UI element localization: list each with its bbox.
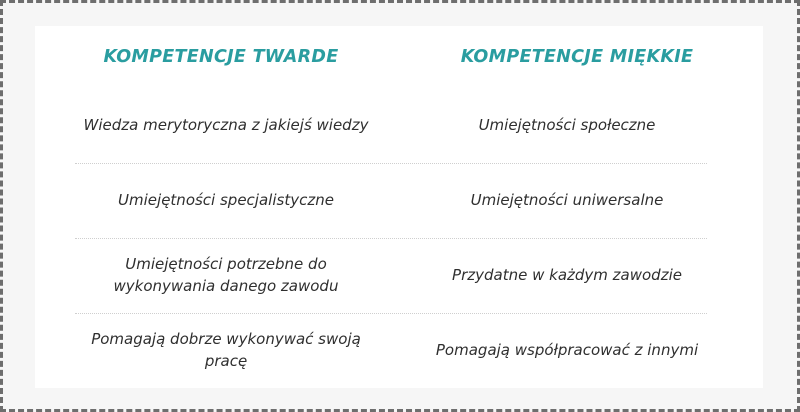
cell-hard-skills-1: Wiedza merytoryczna z jakiejś wiedzy [43, 115, 399, 137]
table-row: Pomagają dobrze wykonywać swoją pracę Po… [43, 313, 755, 388]
table-header-row: KOMPETENCJE TWARDE KOMPETENCJE MIĘKKIE [43, 26, 755, 88]
column-header-hard-skills: KOMPETENCJE TWARDE [43, 47, 399, 67]
cell-hard-skills-4: Pomagają dobrze wykonywać swoją pracę [43, 329, 399, 373]
table-row: Umiejętności potrzebne do wykonywania da… [43, 238, 755, 313]
cell-hard-skills-3: Umiejętności potrzebne do wykonywania da… [43, 254, 399, 298]
column-header-soft-skills: KOMPETENCJE MIĘKKIE [399, 47, 755, 67]
infographic-frame: KOMPETENCJE TWARDE KOMPETENCJE MIĘKKIE W… [0, 0, 800, 412]
table-row: Umiejętności specjalistyczne Umiejętnośc… [43, 163, 755, 238]
table-row: Wiedza merytoryczna z jakiejś wiedzy Umi… [43, 88, 755, 163]
cell-soft-skills-2: Umiejętności uniwersalne [399, 190, 755, 212]
cell-soft-skills-3: Przydatne w każdym zawodzie [399, 265, 755, 287]
cell-soft-skills-1: Umiejętności społeczne [399, 115, 755, 137]
comparison-card: KOMPETENCJE TWARDE KOMPETENCJE MIĘKKIE W… [35, 26, 763, 388]
cell-hard-skills-2: Umiejętności specjalistyczne [43, 190, 399, 212]
comparison-table: KOMPETENCJE TWARDE KOMPETENCJE MIĘKKIE W… [35, 26, 763, 388]
cell-soft-skills-4: Pomagają współpracować z innymi [399, 340, 755, 362]
